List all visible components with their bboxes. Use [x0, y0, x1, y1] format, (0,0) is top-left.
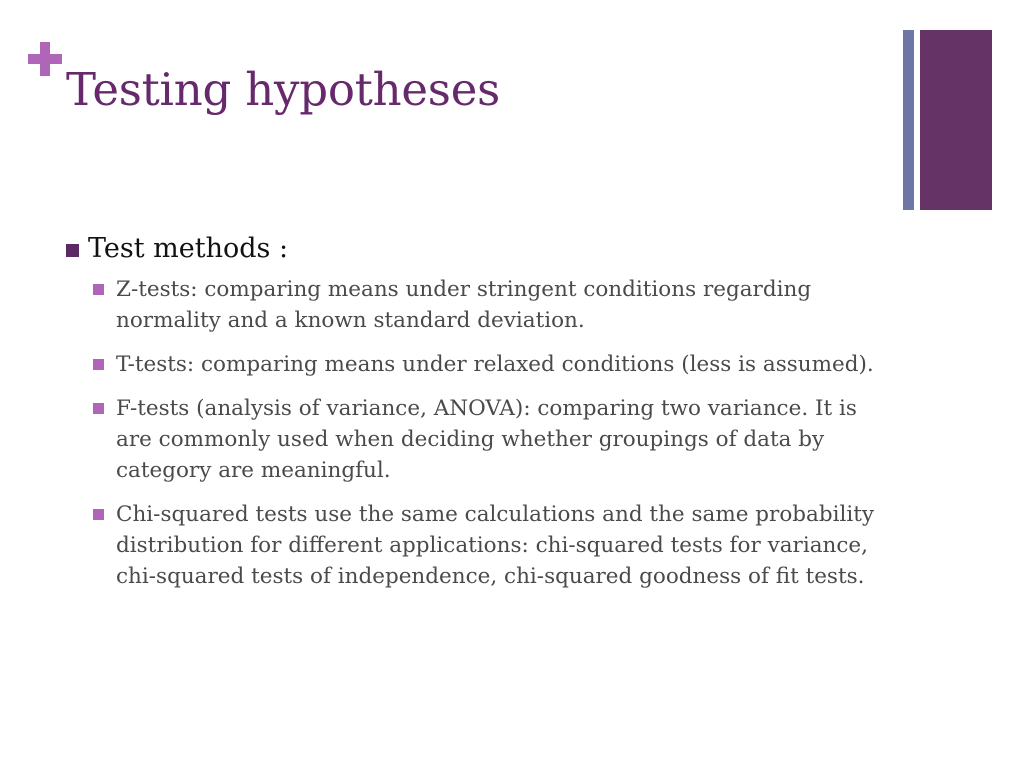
plus-icon-vertical-bar [40, 42, 50, 76]
bullet-level2-label: Chi-squared tests use the same calculati… [116, 502, 874, 589]
slide-body: Test methods : Z-tests: comparing means … [0, 232, 1024, 605]
bullet-level2-item: T-tests: comparing means under relaxed c… [0, 349, 1024, 380]
square-bullet-icon [93, 284, 104, 295]
slide-canvas: Testing hypotheses Test methods : Z-test… [0, 0, 1024, 768]
decorative-thin-bar [903, 30, 914, 210]
slide-title: Testing hypotheses [66, 62, 500, 118]
bullet-level2-item: Z-tests: comparing means under stringent… [0, 274, 1024, 336]
bullet-level1-item: Test methods : [0, 232, 1024, 266]
bullet-level2-label: T-tests: comparing means under relaxed c… [116, 352, 874, 377]
bullet-level1-label: Test methods : [88, 233, 288, 264]
square-bullet-icon [93, 509, 104, 520]
bullet-level2-list: Z-tests: comparing means under stringent… [0, 274, 1024, 592]
square-bullet-icon [93, 403, 104, 414]
bullet-level2-label: Z-tests: comparing means under stringent… [116, 277, 811, 333]
square-bullet-icon [93, 359, 104, 370]
plus-icon [28, 42, 62, 76]
bullet-level2-item: F-tests (analysis of variance, ANOVA): c… [0, 393, 1024, 486]
square-bullet-icon [66, 244, 79, 257]
bullet-level2-label: F-tests (analysis of variance, ANOVA): c… [116, 396, 857, 483]
bullet-level2-item: Chi-squared tests use the same calculati… [0, 499, 1024, 592]
decorative-block [920, 30, 992, 210]
